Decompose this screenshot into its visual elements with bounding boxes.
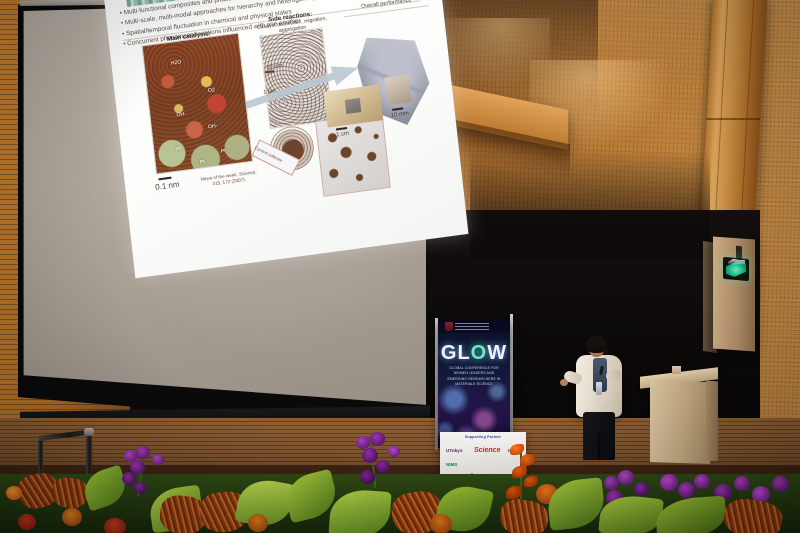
- purple-orchid: [122, 472, 136, 485]
- emergency-exit-icon: [723, 257, 749, 281]
- molecule-label-pt-3: Pt: [200, 159, 206, 166]
- molecule-label-oh-1: OH-: [176, 111, 186, 118]
- purple-orchid: [634, 482, 649, 496]
- orange-bloom: [248, 514, 268, 532]
- glow-accent-letter-o: O: [471, 342, 488, 364]
- slide-image-electrode-chip: [324, 84, 384, 127]
- purple-orchid: [678, 482, 695, 498]
- orange-bloom: [510, 444, 524, 455]
- orange-bloom: [6, 486, 22, 500]
- purple-orchid: [356, 436, 370, 449]
- stage-backdrop-gradient: [470, 150, 710, 260]
- presenter-badge-lanyard: [596, 382, 602, 395]
- purple-orchid: [152, 454, 164, 465]
- molecule-label-h2o: H2O: [170, 59, 181, 66]
- purple-orchid: [734, 476, 750, 491]
- red-bloom: [18, 514, 36, 530]
- university-crest-icon: [445, 322, 453, 331]
- purple-orchid: [360, 470, 375, 484]
- purple-orchid: [134, 482, 147, 494]
- molecule-label-pt-2: Pt: [221, 148, 227, 155]
- purple-orchid: [660, 474, 678, 491]
- purple-orchid: [604, 476, 619, 490]
- orange-bloom: [62, 508, 82, 526]
- purple-orchid: [370, 432, 385, 446]
- slide-image-catalyst-surface: H2O O2 OH- OH- Pt Pt Pt: [142, 32, 254, 174]
- slide-image-tem-particles: [315, 112, 391, 197]
- molecule-label-oh-2: OH-: [208, 123, 218, 130]
- slide-image-cell-stack: [385, 74, 412, 105]
- purple-orchid: [694, 474, 710, 489]
- red-bloom: [104, 518, 126, 533]
- glow-conference-banner: GLOW GLOBAL CONFERENCE FOR WOMEN LEADERS…: [438, 320, 510, 448]
- presenter-left-hand: [560, 379, 568, 386]
- conference-photo-scene: From Nano-scale Reaction to Device • Mul…: [0, 0, 800, 533]
- university-name-text: [455, 323, 489, 330]
- scalebar-label-0-1nm: 0.1 nm: [147, 179, 188, 193]
- purple-orchid: [362, 448, 378, 463]
- projected-slide: From Nano-scale Reaction to Device • Mul…: [104, 0, 469, 284]
- purple-orchid: [136, 446, 150, 459]
- slide-citation: News of the week, Science, 315, 172 (200…: [191, 168, 268, 190]
- exit-column: [713, 237, 755, 352]
- flower-arrangement: [0, 430, 800, 533]
- purple-orchid: [618, 470, 634, 485]
- purple-orchid: [388, 446, 400, 457]
- molecule-label-pt-1: Pt: [176, 146, 182, 153]
- podium-rear-post: [672, 366, 681, 374]
- purple-orchid: [376, 460, 390, 473]
- banner-brand-glow: GLOW: [438, 342, 510, 365]
- banner-subtitle: GLOBAL CONFERENCE FOR WOMEN LEADERS AND …: [446, 366, 502, 387]
- orange-bloom: [430, 514, 452, 533]
- purple-orchid: [772, 476, 789, 492]
- orange-bloom: [520, 454, 535, 466]
- presenter-hair: [586, 336, 607, 353]
- molecule-label-o2: O2: [208, 87, 216, 94]
